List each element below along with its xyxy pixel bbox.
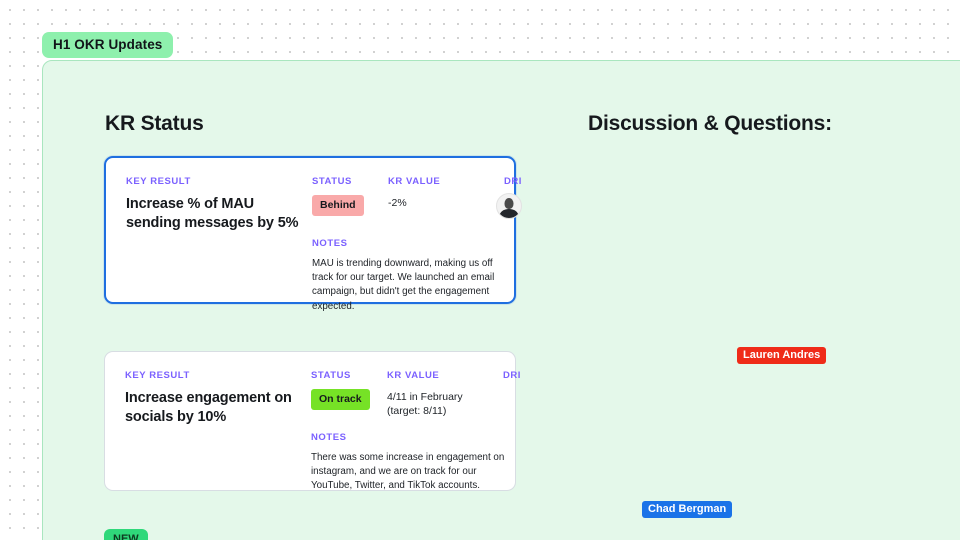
bottom-chip[interactable]: NEW xyxy=(104,529,148,540)
key-result-label: KEY RESULT xyxy=(125,370,311,381)
status-badge[interactable]: Behind xyxy=(312,195,364,216)
kr-value-text: 4/11 in February (target: 8/11) xyxy=(387,390,479,419)
notes-text: There was some increase in engagement on… xyxy=(311,451,507,494)
dri-column: DRI xyxy=(482,176,522,219)
dri-label: DRI xyxy=(482,176,522,187)
key-result-title: Increase % of MAU sending messages by 5% xyxy=(126,195,306,233)
avatar-head-shape xyxy=(505,198,514,209)
frame-title-chip[interactable]: H1 OKR Updates xyxy=(42,32,173,58)
notes-label: NOTES xyxy=(312,238,508,249)
kr-value-column: KR VALUE 4/11 in February (target: 8/11) xyxy=(387,370,479,419)
key-result-title: Increase engagement on socials by 10% xyxy=(125,389,305,427)
board-frame[interactable]: KR Status Discussion & Questions: KEY RE… xyxy=(42,60,960,540)
discussion-questions-heading: Discussion & Questions: xyxy=(588,112,832,136)
kr-value-label: KR VALUE xyxy=(388,176,480,187)
kr-card[interactable]: KEY RESULT Increase engagement on social… xyxy=(104,351,516,491)
dri-label: DRI xyxy=(481,370,521,381)
dri-column: DRI xyxy=(481,370,521,381)
key-result-label: KEY RESULT xyxy=(126,176,312,187)
status-label: STATUS xyxy=(312,176,386,187)
notes-block: NOTES There was some increase in engagem… xyxy=(311,432,507,494)
notes-text: MAU is trending downward, making us off … xyxy=(312,257,508,314)
kr-card[interactable]: KEY RESULT Increase % of MAU sending mes… xyxy=(104,156,516,304)
frame-content: KR Status Discussion & Questions: KEY RE… xyxy=(43,61,960,540)
avatar[interactable] xyxy=(496,193,522,219)
avatar-body-shape xyxy=(500,209,519,219)
collaborator-name-tag: Lauren Andres xyxy=(737,347,826,364)
notes-label: NOTES xyxy=(311,432,507,443)
kr-status-heading: KR Status xyxy=(105,112,204,136)
status-label: STATUS xyxy=(311,370,385,381)
kr-card-grid: KEY RESULT Increase % of MAU sending mes… xyxy=(126,176,494,286)
kr-card-grid: KEY RESULT Increase engagement on social… xyxy=(125,370,495,474)
status-column: STATUS Behind xyxy=(312,176,386,216)
key-result-column: KEY RESULT Increase % of MAU sending mes… xyxy=(126,176,312,233)
status-column: STATUS On track xyxy=(311,370,385,410)
status-badge[interactable]: On track xyxy=(311,389,370,410)
kr-value-text: -2% xyxy=(388,196,480,210)
kr-value-column: KR VALUE -2% xyxy=(388,176,480,210)
notes-block: NOTES MAU is trending downward, making u… xyxy=(312,238,508,314)
key-result-column: KEY RESULT Increase engagement on social… xyxy=(125,370,311,427)
collaborator-name-tag: Chad Bergman xyxy=(642,501,732,518)
kr-value-label: KR VALUE xyxy=(387,370,479,381)
